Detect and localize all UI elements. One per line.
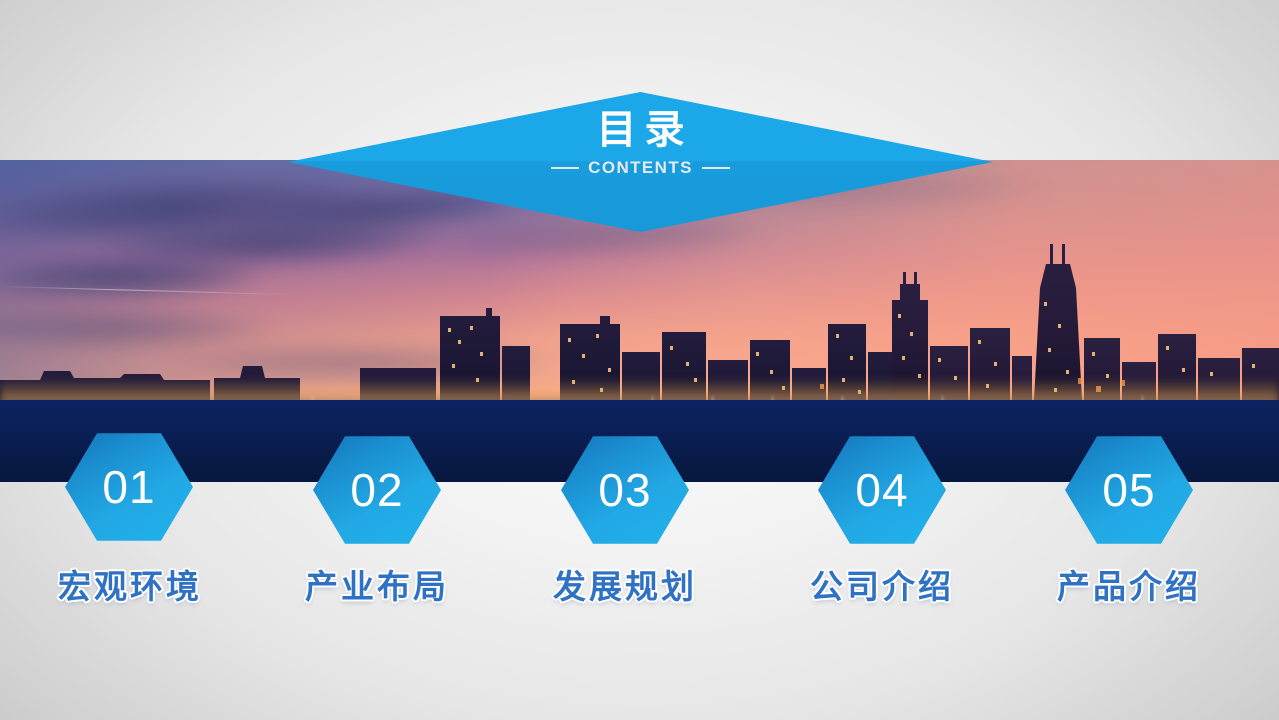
section-label-05[interactable]: 产品介绍: [1009, 560, 1249, 608]
section-label-02[interactable]: 产业布局: [257, 560, 497, 608]
section-badge-03[interactable]: 03: [561, 434, 689, 546]
section-badge-02[interactable]: 02: [313, 434, 441, 546]
section-number: 03: [598, 467, 651, 513]
section-badge-05[interactable]: 05: [1065, 434, 1193, 546]
section-number: 01: [102, 464, 155, 510]
section-label-03[interactable]: 发展规划: [505, 560, 745, 608]
slide-title-en: CONTENTS: [588, 158, 693, 178]
section-number: 02: [350, 467, 403, 513]
section-label-01[interactable]: 宏观环境: [10, 560, 250, 608]
contents-subtitle-row: CONTENTS: [551, 158, 730, 178]
section-number: 05: [1102, 467, 1155, 513]
skyline-silhouette: [0, 228, 1279, 400]
rule-right: [702, 167, 730, 169]
slide-title-cn: 目录: [589, 109, 693, 151]
rule-left: [551, 167, 579, 169]
presentation-slide: 目录 CONTENTS 01 02 03 04 05 宏观环境 产业布局 发展规…: [0, 0, 1279, 720]
section-number: 04: [855, 467, 908, 513]
section-badge-04[interactable]: 04: [818, 434, 946, 546]
section-label-04[interactable]: 公司介绍: [762, 560, 1002, 608]
section-badge-01[interactable]: 01: [65, 431, 193, 543]
